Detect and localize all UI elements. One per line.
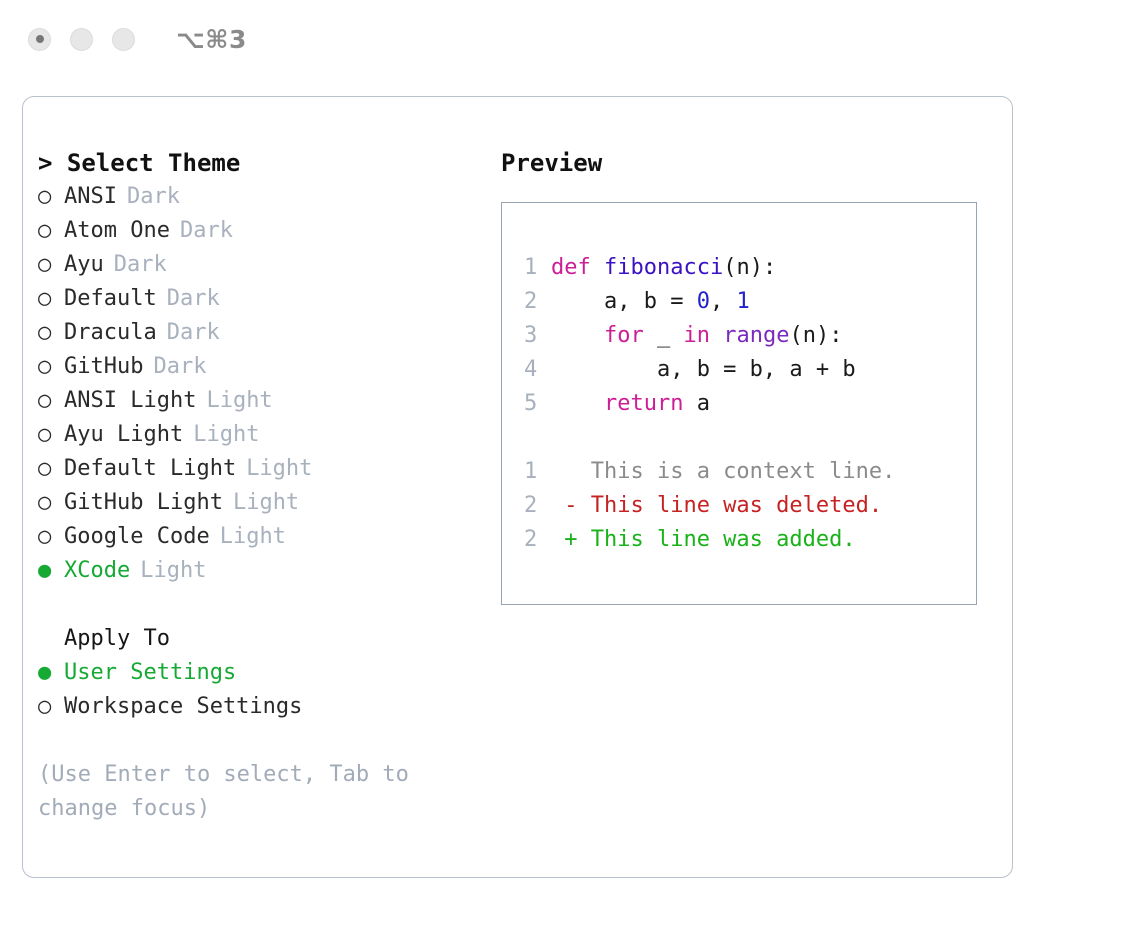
code-line-text: def fibonacci(n):	[551, 251, 776, 285]
code-line: 2 a, b = 0, 1	[524, 285, 895, 319]
radio-unselected-icon: ○	[38, 384, 64, 418]
code-line: 5 return a	[524, 387, 895, 421]
theme-option-label: Ayu	[64, 248, 104, 282]
diff-line-ctx: 1 This is a context line.	[524, 455, 895, 489]
diff-line-text: This is a context line.	[551, 455, 895, 489]
radio-selected-icon: ●	[38, 656, 64, 690]
code-diff-separator	[524, 421, 895, 455]
preview-box: 1def fibonacci(n):2 a, b = 0, 13 for _ i…	[501, 202, 977, 605]
code-line-number: 4	[524, 353, 551, 387]
select-theme-heading: > Select Theme	[38, 146, 498, 180]
theme-option-category: Light	[246, 452, 312, 486]
code-line: 1def fibonacci(n):	[524, 251, 895, 285]
theme-option-github-light[interactable]: ○GitHub LightLight	[38, 486, 498, 520]
theme-option-default-light[interactable]: ○Default LightLight	[38, 452, 498, 486]
theme-option-category: Light	[193, 418, 259, 452]
theme-option-category: Dark	[114, 248, 167, 282]
radio-unselected-icon: ○	[38, 180, 64, 214]
code-line-text: a, b = b, a + b	[551, 353, 856, 387]
diff-line-del: 2 - This line was deleted.	[524, 489, 895, 523]
theme-option-ayu-light[interactable]: ○Ayu LightLight	[38, 418, 498, 452]
theme-picker-column: > Select Theme ○ANSIDark○Atom OneDark○Ay…	[38, 146, 498, 826]
theme-option-label: Google Code	[64, 520, 210, 554]
theme-option-category: Light	[233, 486, 299, 520]
code-token-plain: a	[683, 391, 710, 416]
theme-option-label: ANSI	[64, 180, 117, 214]
radio-unselected-icon: ○	[38, 452, 64, 486]
main-panel: > Select Theme ○ANSIDark○Atom OneDark○Ay…	[22, 96, 1013, 878]
apply-to-option-user-settings[interactable]: ●User Settings	[38, 656, 498, 690]
code-line-number: 1	[524, 251, 551, 285]
apply-to-option-label: Workspace Settings	[64, 690, 302, 724]
theme-option-google-code[interactable]: ○Google CodeLight	[38, 520, 498, 554]
apply-to-option-label: User Settings	[64, 656, 236, 690]
theme-option-ansi-light[interactable]: ○ANSI LightLight	[38, 384, 498, 418]
code-line-number: 5	[524, 387, 551, 421]
code-line: 3 for _ in range(n):	[524, 319, 895, 353]
theme-option-label: GitHub Light	[64, 486, 223, 520]
code-token-num: 0	[697, 289, 710, 314]
theme-option-github[interactable]: ○GitHubDark	[38, 350, 498, 384]
keyboard-shortcut-label: ⌥⌘3	[176, 25, 247, 54]
theme-option-label: Ayu Light	[64, 418, 183, 452]
code-token-plain: a, b =	[551, 289, 697, 314]
code-token-plain: (n):	[789, 323, 842, 348]
code-sample: 1def fibonacci(n):2 a, b = 0, 13 for _ i…	[524, 251, 895, 557]
traffic-light-2-icon[interactable]	[70, 28, 93, 51]
theme-option-category: Dark	[167, 282, 220, 316]
diff-line-text: + This line was added.	[551, 523, 856, 557]
code-token-bi: range	[723, 323, 789, 348]
code-token-num: 1	[736, 289, 749, 314]
theme-option-xcode[interactable]: ●XCodeLight	[38, 554, 498, 588]
radio-unselected-icon: ○	[38, 316, 64, 350]
theme-option-ayu[interactable]: ○AyuDark	[38, 248, 498, 282]
theme-option-atom-one[interactable]: ○Atom OneDark	[38, 214, 498, 248]
diff-line-number: 1	[524, 455, 551, 489]
theme-option-label: Default Light	[64, 452, 236, 486]
theme-option-category: Light	[140, 554, 206, 588]
apply-to-option-workspace-settings[interactable]: ○Workspace Settings	[38, 690, 498, 724]
theme-option-category: Dark	[180, 214, 233, 248]
theme-option-label: Default	[64, 282, 157, 316]
radio-selected-icon: ●	[38, 554, 64, 588]
theme-option-category: Light	[206, 384, 272, 418]
diff-line-add: 2 + This line was added.	[524, 523, 895, 557]
code-token-plain	[710, 323, 723, 348]
radio-unselected-icon: ○	[38, 520, 64, 554]
traffic-light-active-icon[interactable]	[28, 28, 51, 51]
theme-option-category: Dark	[167, 316, 220, 350]
theme-option-category: Dark	[127, 180, 180, 214]
radio-unselected-icon: ○	[38, 486, 64, 520]
radio-unselected-icon: ○	[38, 282, 64, 316]
code-token-plain	[551, 323, 604, 348]
code-token-plain	[551, 391, 604, 416]
window-controls	[28, 28, 135, 51]
theme-option-category: Dark	[153, 350, 206, 384]
code-token-kw: def	[551, 255, 591, 280]
theme-option-category: Light	[220, 520, 286, 554]
theme-option-dracula[interactable]: ○DraculaDark	[38, 316, 498, 350]
code-token-plain: ,	[710, 289, 737, 314]
radio-unselected-icon: ○	[38, 418, 64, 452]
code-line-text: return a	[551, 387, 710, 421]
radio-unselected-icon: ○	[38, 214, 64, 248]
radio-unselected-icon: ○	[38, 248, 64, 282]
code-line-number: 2	[524, 285, 551, 319]
code-token-kw: in	[683, 323, 710, 348]
theme-option-list: ○ANSIDark○Atom OneDark○AyuDark○DefaultDa…	[38, 180, 498, 588]
theme-option-ansi[interactable]: ○ANSIDark	[38, 180, 498, 214]
code-line-text: a, b = 0, 1	[551, 285, 750, 319]
radio-unselected-icon: ○	[38, 350, 64, 384]
theme-option-default[interactable]: ○DefaultDark	[38, 282, 498, 316]
apply-to-option-list: ●User Settings○Workspace Settings	[38, 656, 498, 724]
code-token-plain: (n):	[723, 255, 776, 280]
keyboard-hint-text: (Use Enter to select, Tab to change focu…	[38, 758, 448, 826]
diff-line-text: - This line was deleted.	[551, 489, 882, 523]
diff-line-number: 2	[524, 489, 551, 523]
code-token-plain: _	[644, 323, 684, 348]
traffic-light-dot-inner	[36, 35, 44, 43]
theme-option-label: Dracula	[64, 316, 157, 350]
code-line-text: for _ in range(n):	[551, 319, 842, 353]
preview-heading: Preview	[501, 146, 1001, 180]
traffic-light-3-icon[interactable]	[112, 28, 135, 51]
code-line-number: 3	[524, 319, 551, 353]
code-token-plain: a, b = b, a + b	[551, 357, 856, 382]
window-titlebar: ⌥⌘3	[0, 0, 1140, 78]
code-token-kw: return	[604, 391, 683, 416]
diff-line-number: 2	[524, 523, 551, 557]
theme-option-label: GitHub	[64, 350, 143, 384]
preview-column: Preview 1def fibonacci(n):2 a, b = 0, 13…	[501, 146, 1001, 605]
theme-option-label: XCode	[64, 554, 130, 588]
theme-picker-window: ⌥⌘3 > Select Theme ○ANSIDark○Atom OneDar…	[0, 0, 1140, 934]
code-line: 4 a, b = b, a + b	[524, 353, 895, 387]
radio-unselected-icon: ○	[38, 690, 64, 724]
code-token-kw: for	[604, 323, 644, 348]
code-token-plain	[591, 255, 604, 280]
apply-to-heading: Apply To	[38, 622, 498, 656]
code-token-fn: fibonacci	[604, 255, 723, 280]
theme-option-label: ANSI Light	[64, 384, 196, 418]
theme-option-label: Atom One	[64, 214, 170, 248]
